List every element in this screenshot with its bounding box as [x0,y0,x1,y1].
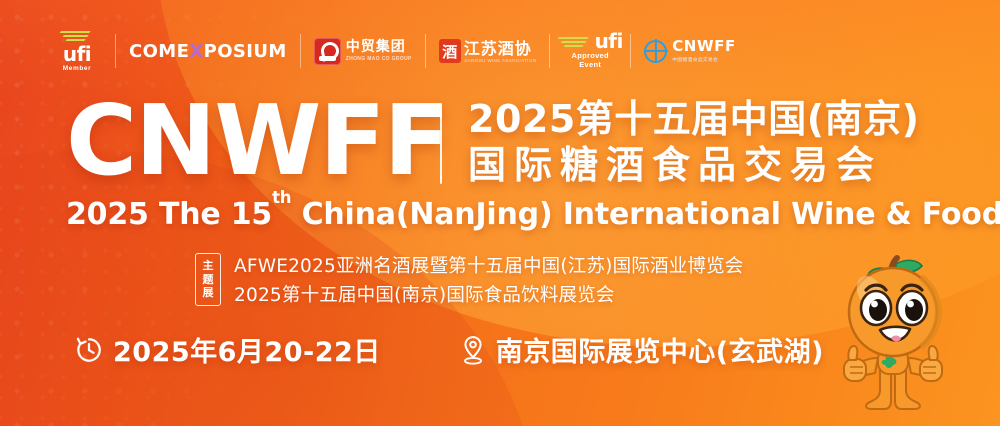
sponsor-divider [630,34,631,68]
ufi-wing-icon [558,37,592,50]
event-venue-text: 南京国际展览中心(玄武湖) [496,330,824,369]
event-title-cn-line2: 国际糖酒食品交易会 [468,142,920,188]
sponsor-logo-ufi-approved-event[interactable]: ufi Approved Event [563,32,617,69]
sponsor-logo-bar: ufi Member COMEXPOSIUM 中贸集团 ZHONG MAO CO… [52,27,736,75]
event-title-en: 2025 The 15th China(NanJing) Internation… [66,197,1000,232]
sponsor-divider [115,34,116,68]
title-divider [440,104,442,184]
sponsor-logo-jiangsu-wine-assoc[interactable]: 酒 江苏酒协 JIANGSU WINE ASSOCIATION [439,39,536,63]
event-venue-item: 南京国际展览中心(玄武湖) [459,330,824,369]
event-banner: ufi Member COMEXPOSIUM 中贸集团 ZHONG MAO CO… [0,0,1000,426]
zhongmao-en-name: ZHONG MAO CO GROUP [346,56,412,62]
comexposium-x: X [189,41,203,62]
orange-mascot [818,250,968,422]
clock-history-icon [74,335,104,365]
event-wordmark: CNWFF [66,96,448,185]
sponsor-logo-zhongmao-group[interactable]: 中贸集团 ZHONG MAO CO GROUP [314,38,412,65]
location-pin-icon [459,334,487,366]
cnwff-wordmark: CNWFF [672,39,736,54]
theme-badge-char-2: 题 [203,273,214,287]
jiangsu-en-name: JIANGSU WINE ASSOCIATION [464,58,536,63]
comexposium-part1: COME [129,41,189,62]
theme-badge-char-1: 主 [203,259,214,273]
event-date-text: 2025年6月20-22日 [113,330,381,369]
jiangsu-seal-icon: 酒 [439,39,461,63]
event-title-cn: 2025第十五届中国(南京) 国际糖酒食品交易会 [468,96,920,189]
sponsor-logo-comexposium[interactable]: COMEXPOSIUM [129,41,287,62]
sponsor-divider [425,34,426,68]
event-title-en-ordinal: th [272,188,291,207]
sponsor-logo-ufi-member[interactable]: ufi Member [52,31,102,72]
cnwff-cn-name: 中国糖酒食品交易会 [672,56,736,63]
ufi-wing-icon [60,31,94,44]
event-title-cn-line1: 2025第十五届中国(南京) [468,96,920,142]
comexposium-part2: POSIUM [204,41,287,62]
theme-badge-char-3: 展 [203,286,214,300]
event-date-item: 2025年6月20-22日 [74,330,381,369]
event-title-en-pre: 2025 The 15 [66,197,272,232]
sponsor-divider [549,34,550,68]
theme-line-1: AFWE2025亚洲名酒展暨第十五届中国(江苏)国际酒业博览会 [234,252,744,278]
ufi-wordmark: ufi [63,45,91,64]
theme-badge: 主 题 展 [195,253,221,306]
jiangsu-cn-name: 江苏酒协 [464,41,536,58]
theme-exhibition-block: 主 题 展 AFWE2025亚洲名酒展暨第十五届中国(江苏)国际酒业博览会 20… [195,252,744,307]
sponsor-logo-cnwff[interactable]: CNWFF 中国糖酒食品交易会 [644,39,736,63]
theme-line-2: 2025第十五届中国(南京)国际食品饮料展览会 [234,281,744,307]
zhongmao-mark-icon [314,38,341,65]
ufi-approved-label: Approved Event [563,52,617,69]
globe-icon [644,40,667,63]
ufi-wordmark: ufi [595,32,623,51]
event-title-en-post: China(NanJing) International Wine & Food… [291,197,1000,232]
zhongmao-cn-name: 中贸集团 [346,40,412,54]
event-info-row: 2025年6月20-22日 南京国际展览中心(玄武湖) [74,330,824,369]
sponsor-divider [300,34,301,68]
ufi-member-label: Member [63,65,92,72]
